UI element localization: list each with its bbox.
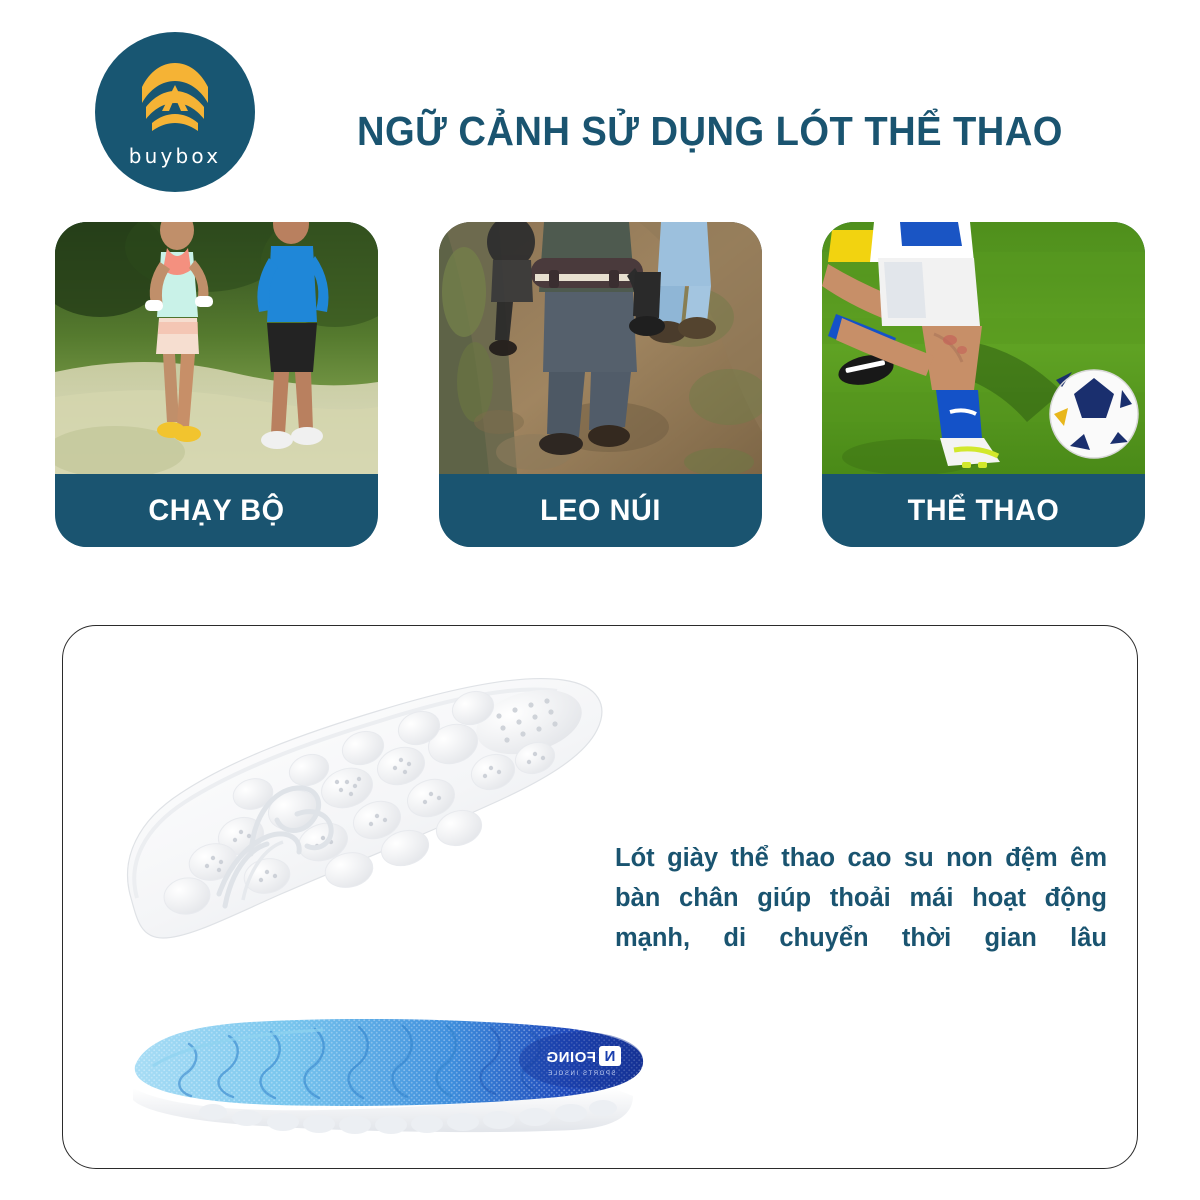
- soccer-player-with-ball-photo: [822, 222, 1145, 474]
- logo-wordmark: buybox: [129, 144, 222, 168]
- product-description: Lót giày thể thao cao su non đệm êm bàn …: [615, 838, 1107, 958]
- product-detail-panel: N FOING SPORTS INSOLE Lót giày thể thao …: [62, 625, 1138, 1169]
- blue-gradient-insole-photo: N FOING SPORTS INSOLE: [93, 1004, 663, 1144]
- header: buybox NGỮ CẢNH SỬ DỤNG LÓT THỂ THAO: [0, 0, 1200, 195]
- svg-text:FOING: FOING: [546, 1049, 596, 1066]
- buybox-arch-logo-icon: [132, 61, 218, 137]
- usage-card-hiking[interactable]: LEO NÚI: [439, 222, 762, 547]
- runners-on-park-path-photo: [55, 222, 378, 474]
- svg-text:SPORTS INSOLE: SPORTS INSOLE: [546, 1071, 615, 1077]
- usage-context-card-row: CHẠY BỘ: [55, 222, 1145, 547]
- usage-card-label-running: CHẠY BỘ: [61, 474, 371, 547]
- usage-card-label-hiking: LEO NÚI: [445, 474, 755, 547]
- usage-card-running[interactable]: CHẠY BỘ: [55, 222, 378, 547]
- svg-text:N: N: [605, 1048, 616, 1065]
- buybox-logo-badge[interactable]: buybox: [95, 32, 255, 192]
- usage-card-label-sports: THỂ THAO: [828, 474, 1138, 547]
- white-textured-insole-underside-photo: [101, 648, 621, 998]
- page-title: NGỮ CẢNH SỬ DỤNG LÓT THỂ THAO: [329, 108, 1092, 155]
- hikers-climbing-muddy-trail-photo: [439, 222, 762, 474]
- usage-card-sports[interactable]: THỂ THAO: [822, 222, 1145, 547]
